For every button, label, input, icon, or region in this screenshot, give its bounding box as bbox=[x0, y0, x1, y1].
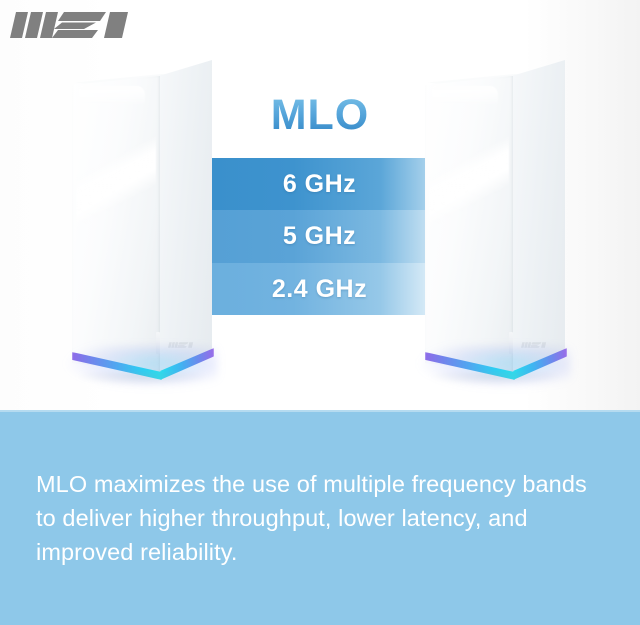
hero-section: MLO 6 GHz 5 GHz 2.4 GHz bbox=[0, 0, 640, 410]
band-6ghz-label: 6 GHz bbox=[283, 170, 356, 199]
router-msi-badge-icon bbox=[168, 338, 194, 350]
band-5ghz: 5 GHz bbox=[211, 210, 428, 263]
caption-line-2: to deliver higher throughput, lower late… bbox=[36, 501, 612, 535]
router-drop-shadow bbox=[427, 372, 563, 386]
band-5ghz-label: 5 GHz bbox=[283, 222, 356, 251]
router-msi-badge-icon bbox=[521, 338, 547, 350]
router-side-face bbox=[160, 60, 212, 372]
mlo-feature-graphic: MLO 6 GHz 5 GHz 2.4 GHz bbox=[0, 0, 640, 625]
frequency-band-stack: 6 GHz 5 GHz 2.4 GHz bbox=[211, 158, 428, 315]
router-front-face bbox=[425, 76, 513, 372]
caption-line-3: improved reliability. bbox=[36, 535, 612, 569]
caption-top-rule bbox=[0, 410, 640, 412]
router-side-face bbox=[513, 60, 565, 372]
msi-logo bbox=[10, 8, 132, 42]
router-front-face bbox=[72, 76, 160, 372]
band-24ghz: 2.4 GHz bbox=[211, 263, 428, 315]
band-24ghz-label: 2.4 GHz bbox=[272, 275, 367, 304]
router-drop-shadow bbox=[74, 372, 210, 386]
router-left bbox=[72, 60, 212, 390]
router-indicator-slot bbox=[156, 332, 160, 354]
band-6ghz: 6 GHz bbox=[211, 158, 428, 210]
caption-line-1: MLO maximizes the use of multiple freque… bbox=[36, 467, 612, 501]
router-right bbox=[425, 60, 565, 390]
router-indicator-slot bbox=[509, 332, 513, 354]
router-top-highlight bbox=[432, 86, 498, 104]
router-top-highlight bbox=[79, 86, 145, 104]
caption-panel: MLO maximizes the use of multiple freque… bbox=[0, 410, 640, 625]
caption-text: MLO maximizes the use of multiple freque… bbox=[36, 467, 612, 569]
